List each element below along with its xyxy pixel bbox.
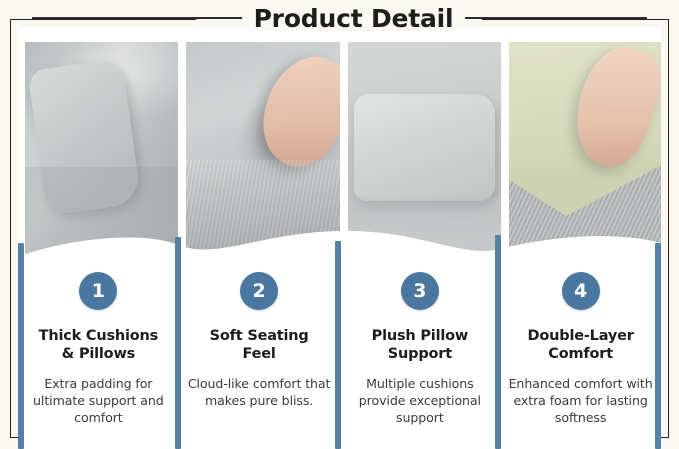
- feature-title-line-1: Plush Pillow: [372, 328, 468, 344]
- feature-description-2: Cloud-like comfort that makes pure bliss…: [187, 376, 332, 410]
- step-badge-4: 4: [562, 272, 600, 310]
- feature-title-line-1: Soft Seating: [210, 328, 309, 344]
- step-badge-2: 2: [240, 272, 278, 310]
- feature-title-line-2: & Pillows: [62, 346, 135, 362]
- title-rule-left: [32, 17, 242, 19]
- step-badge-3: 3: [401, 272, 439, 310]
- feature-title-3: Plush Pillow Support: [372, 328, 468, 363]
- feature-title-4: Double-Layer Comfort: [528, 328, 634, 363]
- page-title: Product Detail: [252, 6, 456, 31]
- feature-title-line-1: Thick Cushions: [39, 328, 158, 344]
- feature-title-line-2: Support: [388, 346, 452, 362]
- feature-title-line-2: Feel: [243, 346, 276, 362]
- feature-title-line-1: Double-Layer: [528, 328, 634, 344]
- page-title-row: Product Detail: [0, 0, 679, 36]
- feature-description-4: Enhanced comfort with extra foam for las…: [508, 376, 653, 427]
- feature-item-4: 4 Double-Layer Comfort Enhanced comfort …: [500, 270, 661, 449]
- feature-description-1: Extra padding for ultimate support and c…: [26, 376, 171, 427]
- feature-title-line-2: Comfort: [548, 346, 613, 362]
- feature-item-2: 2 Soft Seating Feel Cloud-like comfort t…: [179, 270, 340, 449]
- title-rule-right: [465, 17, 647, 19]
- step-badge-1: 1: [79, 272, 117, 310]
- feature-list: 1 Thick Cushions & Pillows Extra padding…: [18, 270, 661, 449]
- feature-title-2: Soft Seating Feel: [210, 328, 309, 363]
- product-detail-card: 1 Thick Cushions & Pillows Extra padding…: [18, 27, 661, 449]
- feature-item-3: 3 Plush Pillow Support Multiple cushions…: [340, 270, 501, 449]
- feature-title-1: Thick Cushions & Pillows: [39, 328, 158, 363]
- feature-item-1: 1 Thick Cushions & Pillows Extra padding…: [18, 270, 179, 449]
- feature-description-3: Multiple cushions provide exceptional su…: [348, 376, 493, 427]
